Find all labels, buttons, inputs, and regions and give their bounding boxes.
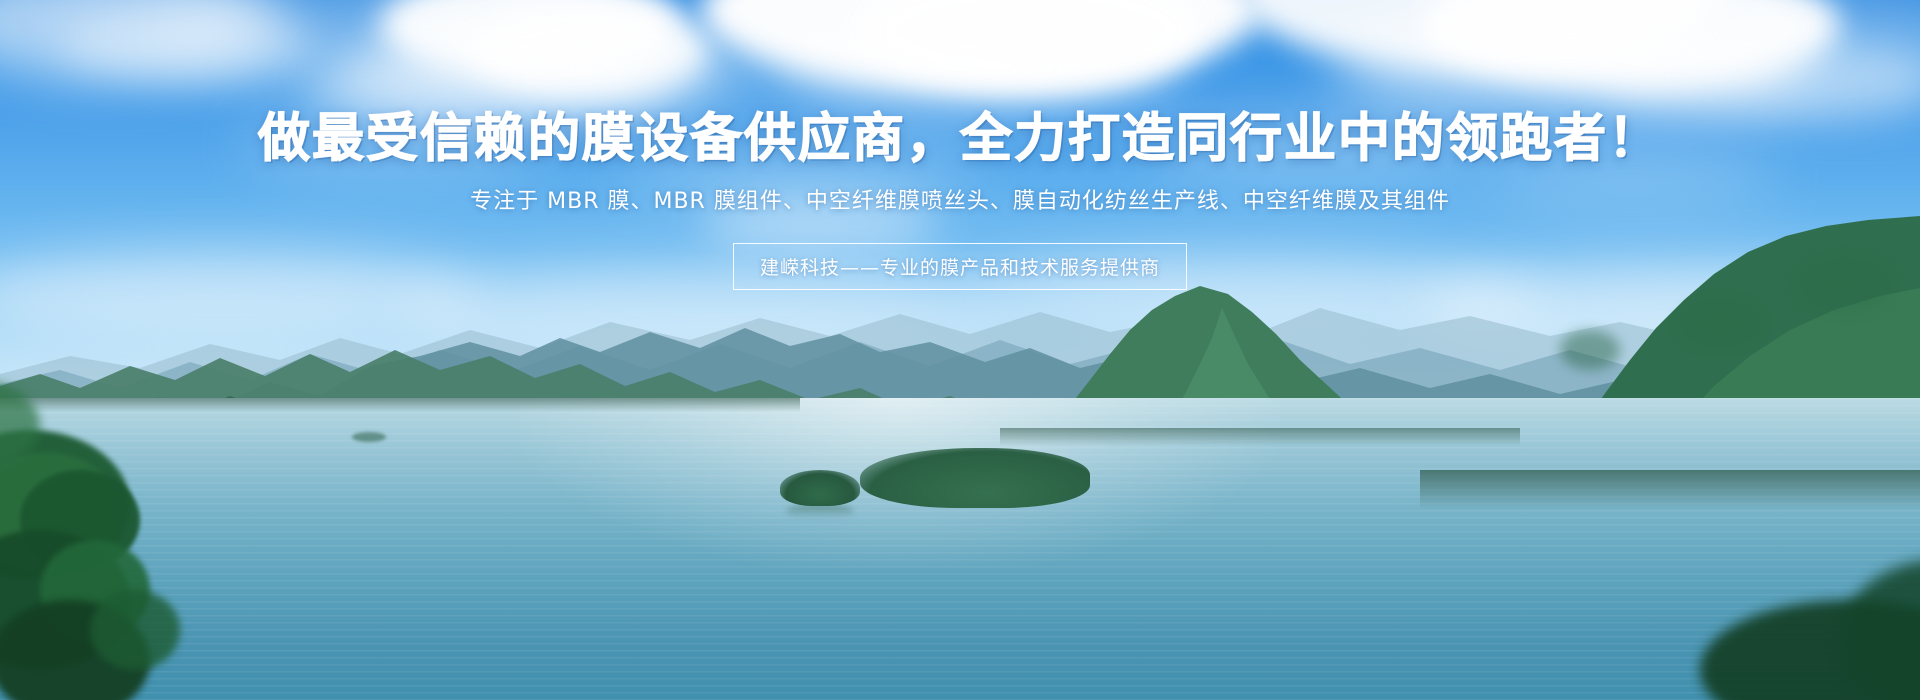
banner-headline: 做最受信赖的膜设备供应商，全力打造同行业中的领跑者！ <box>0 96 1920 171</box>
banner-subtitle: 专注于 MBR 膜、MBR 膜组件、中空纤维膜喷丝头、膜自动化纺丝生产线、中空纤… <box>0 183 1920 215</box>
text-overlay: 做最受信赖的膜设备供应商，全力打造同行业中的领跑者！ 专注于 MBR 膜、MBR… <box>0 0 1920 700</box>
banner-tagline-box: 建嵘科技——专业的膜产品和技术服务提供商 <box>733 243 1187 290</box>
banner-tagline-wrap: 建嵘科技——专业的膜产品和技术服务提供商 <box>0 243 1920 290</box>
hero-banner: 做最受信赖的膜设备供应商，全力打造同行业中的领跑者！ 专注于 MBR 膜、MBR… <box>0 0 1920 700</box>
